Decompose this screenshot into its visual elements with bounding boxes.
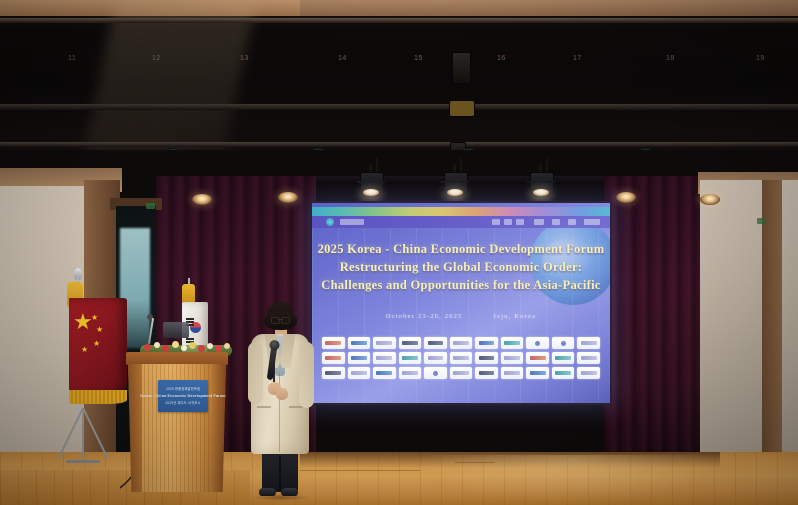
flower-red-1 [144, 344, 151, 351]
presenter-sleeve-left [248, 342, 263, 404]
presenter-hand-right [276, 388, 288, 400]
flower-white-3 [207, 343, 213, 349]
presenter-sleeve-right [299, 342, 314, 408]
podium[interactable]: 2025 한중경제발전포럼 Korea - China Economic Dev… [128, 352, 226, 492]
flower-red-4 [215, 345, 222, 352]
truss-number-13: 13 [240, 55, 249, 62]
presenter-shoe-left [259, 488, 276, 496]
floor-seam-2 [455, 462, 495, 463]
podium-edge-left [128, 364, 142, 492]
flag-cloth-china: ★ ★ ★ ★ ★ [69, 298, 127, 396]
truss-number-12: 12 [152, 55, 161, 62]
lighting-truss-lower [0, 142, 798, 147]
podium-sign-line-3: 2025년 제주도 서귀포시 [165, 401, 200, 405]
wall-right [700, 180, 798, 480]
lighting-truss-mid [0, 104, 798, 110]
presenter-shoe-right [281, 488, 298, 496]
flag-tassel-korea [182, 284, 195, 304]
truss-number-16: 16 [497, 55, 506, 62]
truss-number-11: 11 [68, 55, 76, 62]
flower-yellow-1 [172, 341, 179, 348]
truss-number-15: 15 [414, 55, 423, 62]
recessed-downlight-10 [192, 194, 212, 205]
podium-laptop [163, 322, 189, 338]
truss-number-18: 18 [666, 55, 675, 62]
ceiling-warm-band-left [0, 0, 300, 16]
podium-sign: 2025 한중경제발전포럼 Korea - China Economic Dev… [158, 380, 208, 412]
presenter [243, 302, 317, 498]
presenter-pants [262, 448, 298, 492]
flag-stand-china [63, 408, 103, 466]
lighting-truss-upper [0, 18, 798, 23]
podium-sign-line-2: Korea - China Economic Development Forum [140, 394, 225, 398]
glasses-icon [271, 317, 290, 322]
recessed-downlight-11 [278, 192, 298, 203]
projection-screen-frame [310, 201, 612, 405]
flag-china: ★ ★ ★ ★ ★ [55, 290, 103, 410]
flag-star-small-4-icon: ★ [81, 340, 88, 359]
flower-red-2 [162, 345, 169, 352]
flower-red-3 [198, 345, 205, 352]
wall-pillar-right [762, 180, 782, 480]
flag-star-large-icon: ★ [73, 312, 93, 331]
podium-edge-right [212, 364, 226, 492]
exit-sign-icon [146, 203, 155, 209]
floor-seam-1 [300, 470, 420, 471]
recessed-downlight-12 [616, 192, 636, 203]
flower-yellow-3 [224, 343, 230, 349]
stage-spotlight-2 [444, 172, 466, 198]
truss-number-19: 19 [756, 55, 765, 62]
truss-number-17: 17 [573, 55, 582, 62]
podium-sign-line-1: 2025 한중경제발전포럼 [166, 387, 200, 391]
rigging-box [452, 52, 471, 84]
flower-white-2 [181, 345, 187, 351]
podium-top-surface [126, 352, 228, 365]
flower-yellow-2 [189, 342, 196, 349]
recessed-downlight-13 [700, 194, 720, 205]
coat-pocket-left [257, 406, 271, 408]
stage-spotlight-3 [530, 172, 552, 198]
flag-star-small-3-icon: ★ [93, 334, 100, 353]
truss-number-14: 14 [338, 55, 347, 62]
conference-stage-photo: 11 12 13 14 15 16 17 18 19 [0, 0, 798, 505]
presenter-hair [267, 302, 294, 328]
flower-white-1 [154, 342, 160, 348]
rigging-clamp [449, 100, 475, 117]
stage-spotlight-1 [360, 172, 382, 198]
exit-sign-icon-right [757, 218, 766, 224]
